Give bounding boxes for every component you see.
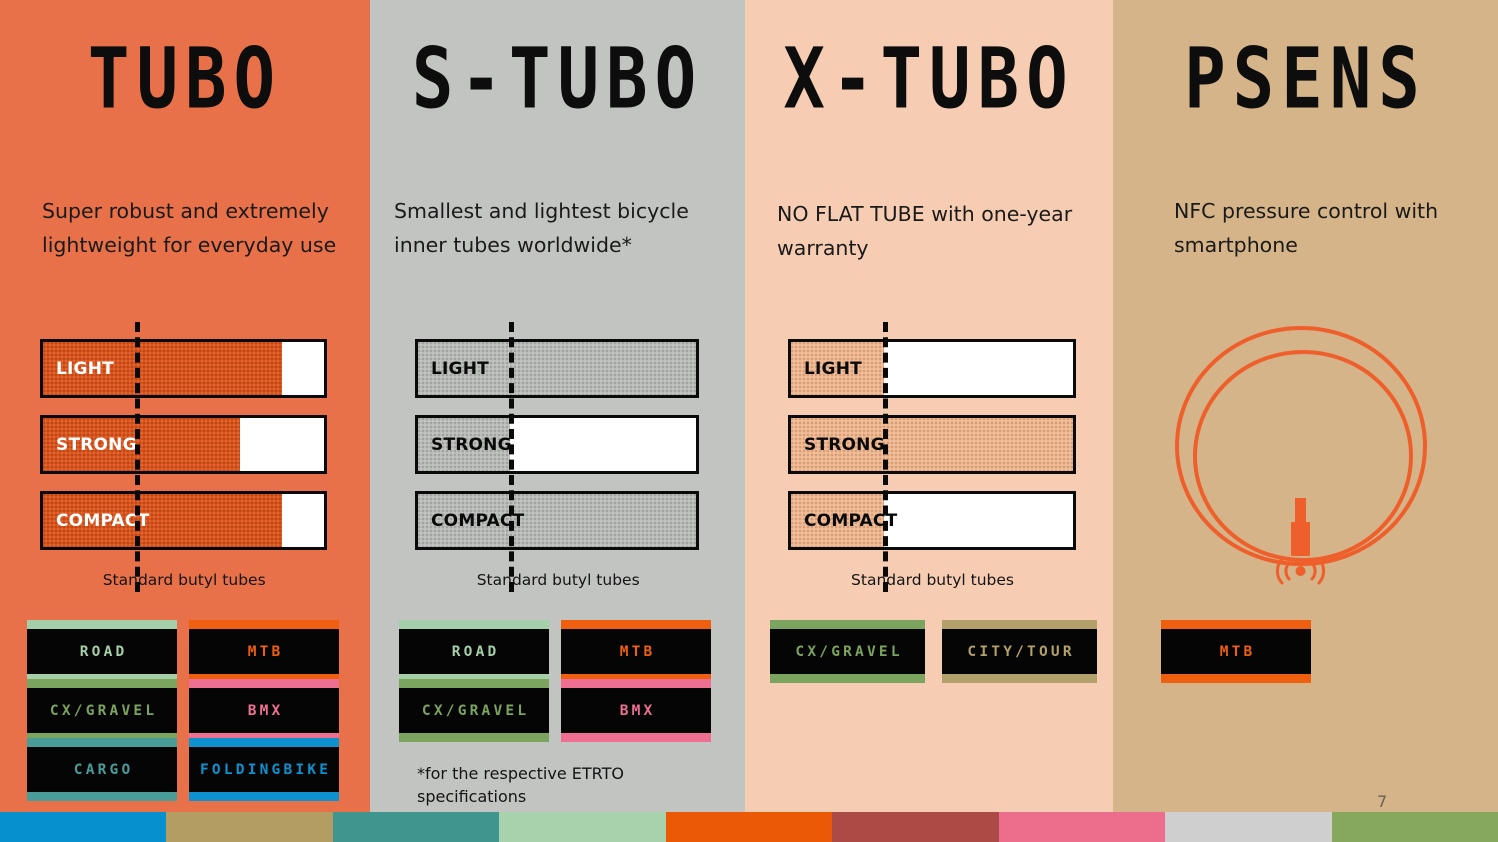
category-tag-label: BMX (245, 703, 284, 719)
category-tag-accent-bottom (189, 792, 339, 801)
category-tag[interactable]: BMX (561, 686, 711, 735)
rating-bars-tubo: LIGHT STRONG COMPACT Standard butyl tube… (40, 339, 327, 567)
category-tag-accent-top (1161, 620, 1311, 629)
product-subtitle-stubo: Smallest and lightest bicycle inner tube… (394, 194, 734, 263)
rating-bar-label: COMPACT (804, 511, 897, 531)
category-tags-psens: MTB (1161, 627, 1491, 676)
category-tag-label: BMX (617, 703, 656, 719)
category-tag[interactable]: BMX (189, 686, 339, 735)
category-tags-tubo: ROADMTBCX/GRAVELBMXCARGOFOLDINGBIKE (27, 627, 347, 794)
rating-bar-strong: STRONG (40, 415, 327, 474)
category-tag-accent-top (942, 620, 1097, 629)
color-swatch (499, 812, 665, 842)
category-tag-label: MTB (1217, 644, 1256, 660)
color-swatch (0, 812, 166, 842)
rating-bar-light: LIGHT (415, 339, 699, 398)
color-swatch (832, 812, 998, 842)
category-tag-accent-top (189, 679, 339, 688)
category-tag-label: CX/GRAVEL (792, 644, 903, 660)
rating-bar-label: LIGHT (431, 359, 489, 379)
category-tag[interactable]: ROAD (27, 627, 177, 676)
rating-bar-label: STRONG (56, 435, 137, 455)
product-column-psens: PSENS NFC pressure control with smartpho… (1113, 0, 1498, 812)
color-swatch (166, 812, 332, 842)
category-tag-accent-top (27, 738, 177, 747)
rating-bar-label: STRONG (804, 435, 885, 455)
category-tag-label: ROAD (77, 644, 128, 660)
category-tag-accent-bottom (27, 792, 177, 801)
category-tag[interactable]: FOLDINGBIKE (189, 745, 339, 794)
category-tag-accent-top (561, 620, 711, 629)
rating-bar-light: LIGHT (40, 339, 327, 398)
category-tag[interactable]: MTB (561, 627, 711, 676)
category-tag-accent-top (770, 620, 925, 629)
rating-bar-label: LIGHT (56, 359, 114, 379)
rating-bar-label: COMPACT (56, 511, 149, 531)
rating-bar-compact: COMPACT (40, 491, 327, 550)
color-swatch-strip (0, 812, 1498, 842)
category-tag-accent-top (189, 620, 339, 629)
product-column-xtubo: X-TUBO NO FLAT TUBE with one-year warran… (745, 0, 1113, 812)
category-tag-accent-top (189, 738, 339, 747)
category-tag-accent-bottom (561, 733, 711, 742)
category-tag[interactable]: CITY/TOUR (942, 627, 1097, 676)
category-tag-label: CITY/TOUR (964, 644, 1075, 660)
product-column-stubo: S-TUBO Smallest and lightest bicycle inn… (370, 0, 745, 812)
category-tag-accent-bottom (1161, 674, 1311, 683)
etrto-footnote: *for the respective ETRTO specifications (417, 762, 677, 808)
category-tag-accent-bottom (770, 674, 925, 683)
rating-bar-strong: STRONG (788, 415, 1076, 474)
product-subtitle-tubo: Super robust and extremely lightweight f… (42, 194, 342, 263)
category-tag[interactable]: CX/GRAVEL (399, 686, 549, 735)
category-tag-label: FOLDINGBIKE (197, 762, 331, 778)
product-subtitle-xtubo: NO FLAT TUBE with one-year warranty (777, 197, 1097, 266)
rating-bar-strong: STRONG (415, 415, 699, 474)
product-title-stubo: S-TUBO (370, 38, 745, 122)
category-tag[interactable]: CX/GRAVEL (27, 686, 177, 735)
rating-bars-xtubo: LIGHT STRONG COMPACT Standard butyl tube… (788, 339, 1076, 567)
color-swatch (1332, 812, 1498, 842)
product-subtitle-psens: NFC pressure control with smartphone (1174, 194, 1494, 263)
color-swatch (999, 812, 1165, 842)
rating-bar-light: LIGHT (788, 339, 1076, 398)
category-tag-accent-top (561, 679, 711, 688)
category-tag[interactable]: MTB (189, 627, 339, 676)
category-tag-label: CX/GRAVEL (47, 703, 158, 719)
rating-bar-label: COMPACT (431, 511, 524, 531)
color-swatch (333, 812, 499, 842)
category-tags-xtubo: CX/GRAVELCITY/TOUR (770, 627, 1100, 676)
category-tag-label: MTB (617, 644, 656, 660)
category-tag-label: CARGO (71, 762, 134, 778)
axis-caption-xtubo: Standard butyl tubes (851, 571, 1014, 589)
category-tags-stubo: ROADMTBCX/GRAVELBMX (399, 627, 719, 735)
category-tag-accent-top (399, 620, 549, 629)
rating-bar-compact: COMPACT (415, 491, 699, 550)
category-tag[interactable]: ROAD (399, 627, 549, 676)
category-tag-label: ROAD (449, 644, 500, 660)
category-tag-accent-bottom (399, 733, 549, 742)
page-number: 7 (1377, 792, 1387, 811)
product-column-tubo: TUBO Super robust and extremely lightwei… (0, 0, 370, 812)
category-tag-label: MTB (245, 644, 284, 660)
category-tag-accent-bottom (942, 674, 1097, 683)
category-tag[interactable]: MTB (1161, 627, 1311, 676)
category-tag-accent-top (399, 679, 549, 688)
axis-caption-tubo: Standard butyl tubes (103, 571, 266, 589)
color-swatch (1165, 812, 1331, 842)
inner-tube-nfc-icon (1171, 318, 1431, 588)
axis-caption-stubo: Standard butyl tubes (477, 571, 640, 589)
rating-bar-compact: COMPACT (788, 491, 1076, 550)
rating-bar-label: STRONG (431, 435, 512, 455)
rating-bars-stubo: LIGHT STRONG COMPACT Standard butyl tube… (415, 339, 699, 567)
category-tag-label: CX/GRAVEL (419, 703, 530, 719)
product-title-psens: PSENS (1113, 38, 1498, 122)
product-title-tubo: TUBO (0, 38, 370, 122)
category-tag-accent-top (27, 620, 177, 629)
rating-bar-label: LIGHT (804, 359, 862, 379)
category-tag[interactable]: CARGO (27, 745, 177, 794)
category-tag[interactable]: CX/GRAVEL (770, 627, 925, 676)
product-title-xtubo: X-TUBO (745, 38, 1113, 122)
category-tag-accent-top (27, 679, 177, 688)
color-swatch (666, 812, 832, 842)
slide-root: TUBO Super robust and extremely lightwei… (0, 0, 1498, 842)
